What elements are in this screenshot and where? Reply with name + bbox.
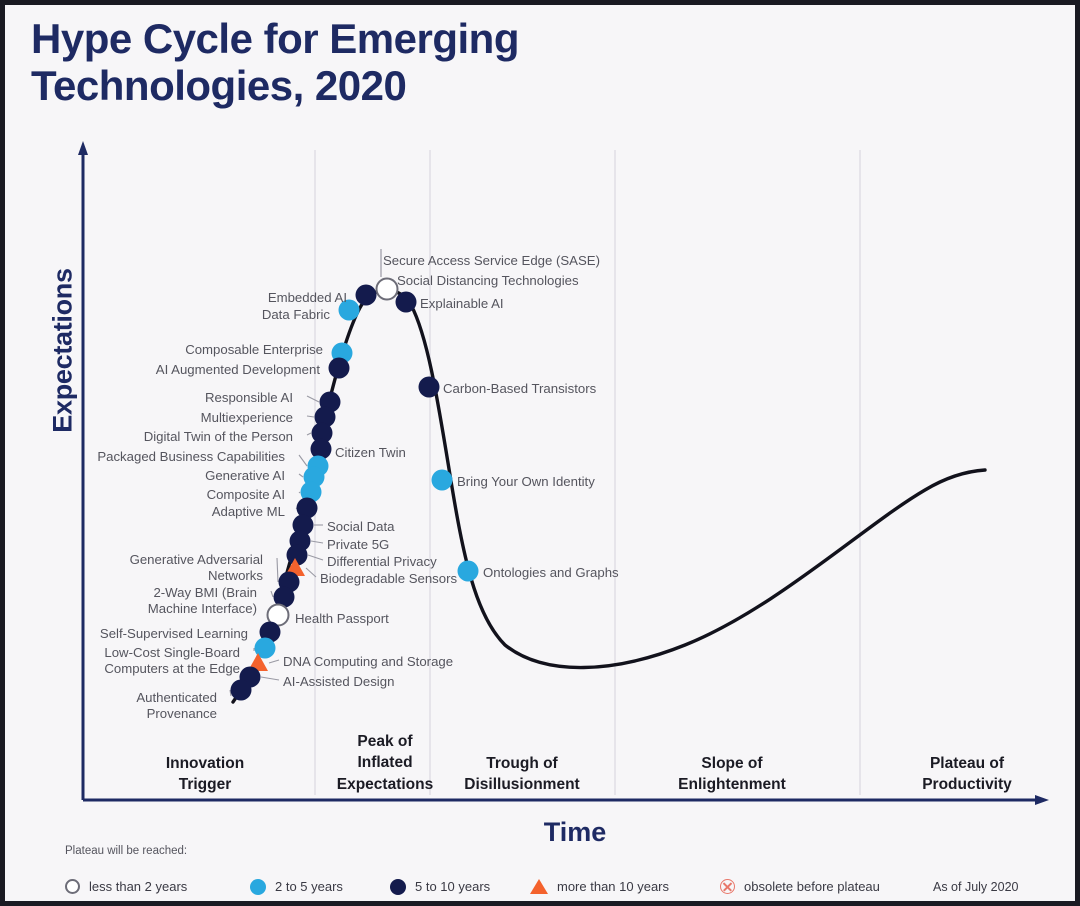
marker-dot[interactable] [432, 470, 453, 491]
legend-triangle-icon [530, 879, 548, 894]
leader-line [307, 416, 314, 417]
phase-label: Slope ofEnlightenment [637, 753, 827, 796]
technology-label: Citizen Twin [335, 445, 406, 461]
legend-item: less than 2 years [65, 878, 187, 894]
technology-label: Digital Twin of the Person [144, 429, 293, 445]
leader-line [307, 433, 311, 435]
technology-label: DNA Computing and Storage [283, 654, 453, 670]
technology-label: Bring Your Own Identity [457, 474, 595, 490]
technology-label: Differential Privacy [327, 554, 437, 570]
legend-filled-circle-icon [390, 879, 406, 895]
marker-dot[interactable] [396, 292, 417, 313]
technology-label: Multiexperience [201, 410, 293, 426]
technology-label: Social Distancing Technologies [397, 273, 579, 289]
technology-label: Ontologies and Graphs [483, 565, 619, 581]
legend-item-label: 5 to 10 years [415, 879, 490, 894]
technology-label: Responsible AI [205, 390, 293, 406]
technology-label: Data Fabric [262, 307, 330, 323]
legend-item-label: less than 2 years [89, 879, 187, 894]
phase-label-line: Plateau of [872, 753, 1062, 774]
legend-item-label: obsolete before plateau [744, 879, 880, 894]
technology-label: AI Augmented Development [156, 362, 320, 378]
phase-label: Trough ofDisillusionment [427, 753, 617, 796]
phase-label-line: Peak of [290, 731, 480, 752]
legend-item-label: more than 10 years [557, 879, 669, 894]
technology-label: Generative AI [205, 468, 285, 484]
technology-label: Generative Adversarial Networks [113, 552, 263, 584]
technology-label: Explainable AI [420, 296, 504, 312]
legend-item-label: 2 to 5 years [275, 879, 343, 894]
legend-item: more than 10 years [530, 878, 669, 894]
phase-label-line: Innovation [110, 753, 300, 774]
legend-item: 5 to 10 years [390, 878, 490, 895]
legend-caption: Plateau will be reached: [65, 845, 187, 857]
legend-hollow-circle-icon [65, 879, 80, 894]
legend-item: 2 to 5 years [250, 878, 343, 895]
technology-label: Embedded AI [268, 290, 347, 306]
marker-dot[interactable] [377, 279, 398, 300]
phase-label-line: Disillusionment [427, 774, 617, 795]
leader-line [261, 677, 279, 680]
leader-line [271, 591, 273, 597]
technology-label: Carbon-Based Transistors [443, 381, 596, 397]
technology-label: Self-Supervised Learning [100, 626, 248, 642]
technology-label: Biodegradable Sensors [320, 571, 470, 587]
technology-label: Social Data [327, 519, 394, 535]
technology-label: Authenticated Provenance [67, 690, 217, 722]
marker-dot[interactable] [231, 680, 252, 701]
marker-dot[interactable] [419, 377, 440, 398]
technology-label: AI-Assisted Design [283, 674, 394, 690]
hype-cycle-figure: Hype Cycle for Emerging Technologies, 20… [0, 0, 1080, 906]
leader-line [299, 474, 303, 477]
technology-label: Secure Access Service Edge (SASE) [383, 253, 600, 269]
technology-label: Adaptive ML [212, 504, 285, 520]
technology-label: Packaged Business Capabilities [97, 449, 285, 465]
technology-label: Low-Cost Single-Board Computers at the E… [90, 645, 240, 677]
leader-line [307, 396, 319, 402]
marker-dot[interactable] [356, 285, 377, 306]
leader-line [311, 541, 323, 543]
technology-label: Health Passport [295, 611, 389, 627]
technology-label: 2-Way BMI (Brain Machine Interface) [107, 585, 257, 617]
phase-label: InnovationTrigger [110, 753, 300, 796]
leader-line [269, 660, 279, 663]
phase-label: Plateau ofProductivity [872, 753, 1062, 796]
leader-line [277, 558, 278, 582]
phase-label-line: Trough of [427, 753, 617, 774]
phase-label-line: Enlightenment [637, 774, 827, 795]
technology-label: Composite AI [207, 487, 285, 503]
marker-dot[interactable] [329, 358, 350, 379]
leader-line [299, 492, 300, 493]
phase-label-line: Productivity [872, 774, 1062, 795]
phase-label-line: Slope of [637, 753, 827, 774]
legend-filled-circle-icon [250, 879, 266, 895]
technology-label: Composable Enterprise [185, 342, 323, 358]
leader-line [299, 455, 307, 466]
phase-label-line: Trigger [110, 774, 300, 795]
bottom-rule [5, 901, 1075, 905]
legend-obsolete-icon [720, 879, 735, 894]
legend-item: obsolete before plateau [720, 878, 880, 894]
technology-label: Private 5G [327, 537, 389, 553]
as-of-date: As of July 2020 [933, 880, 1018, 894]
phase-gridlines [315, 150, 860, 795]
